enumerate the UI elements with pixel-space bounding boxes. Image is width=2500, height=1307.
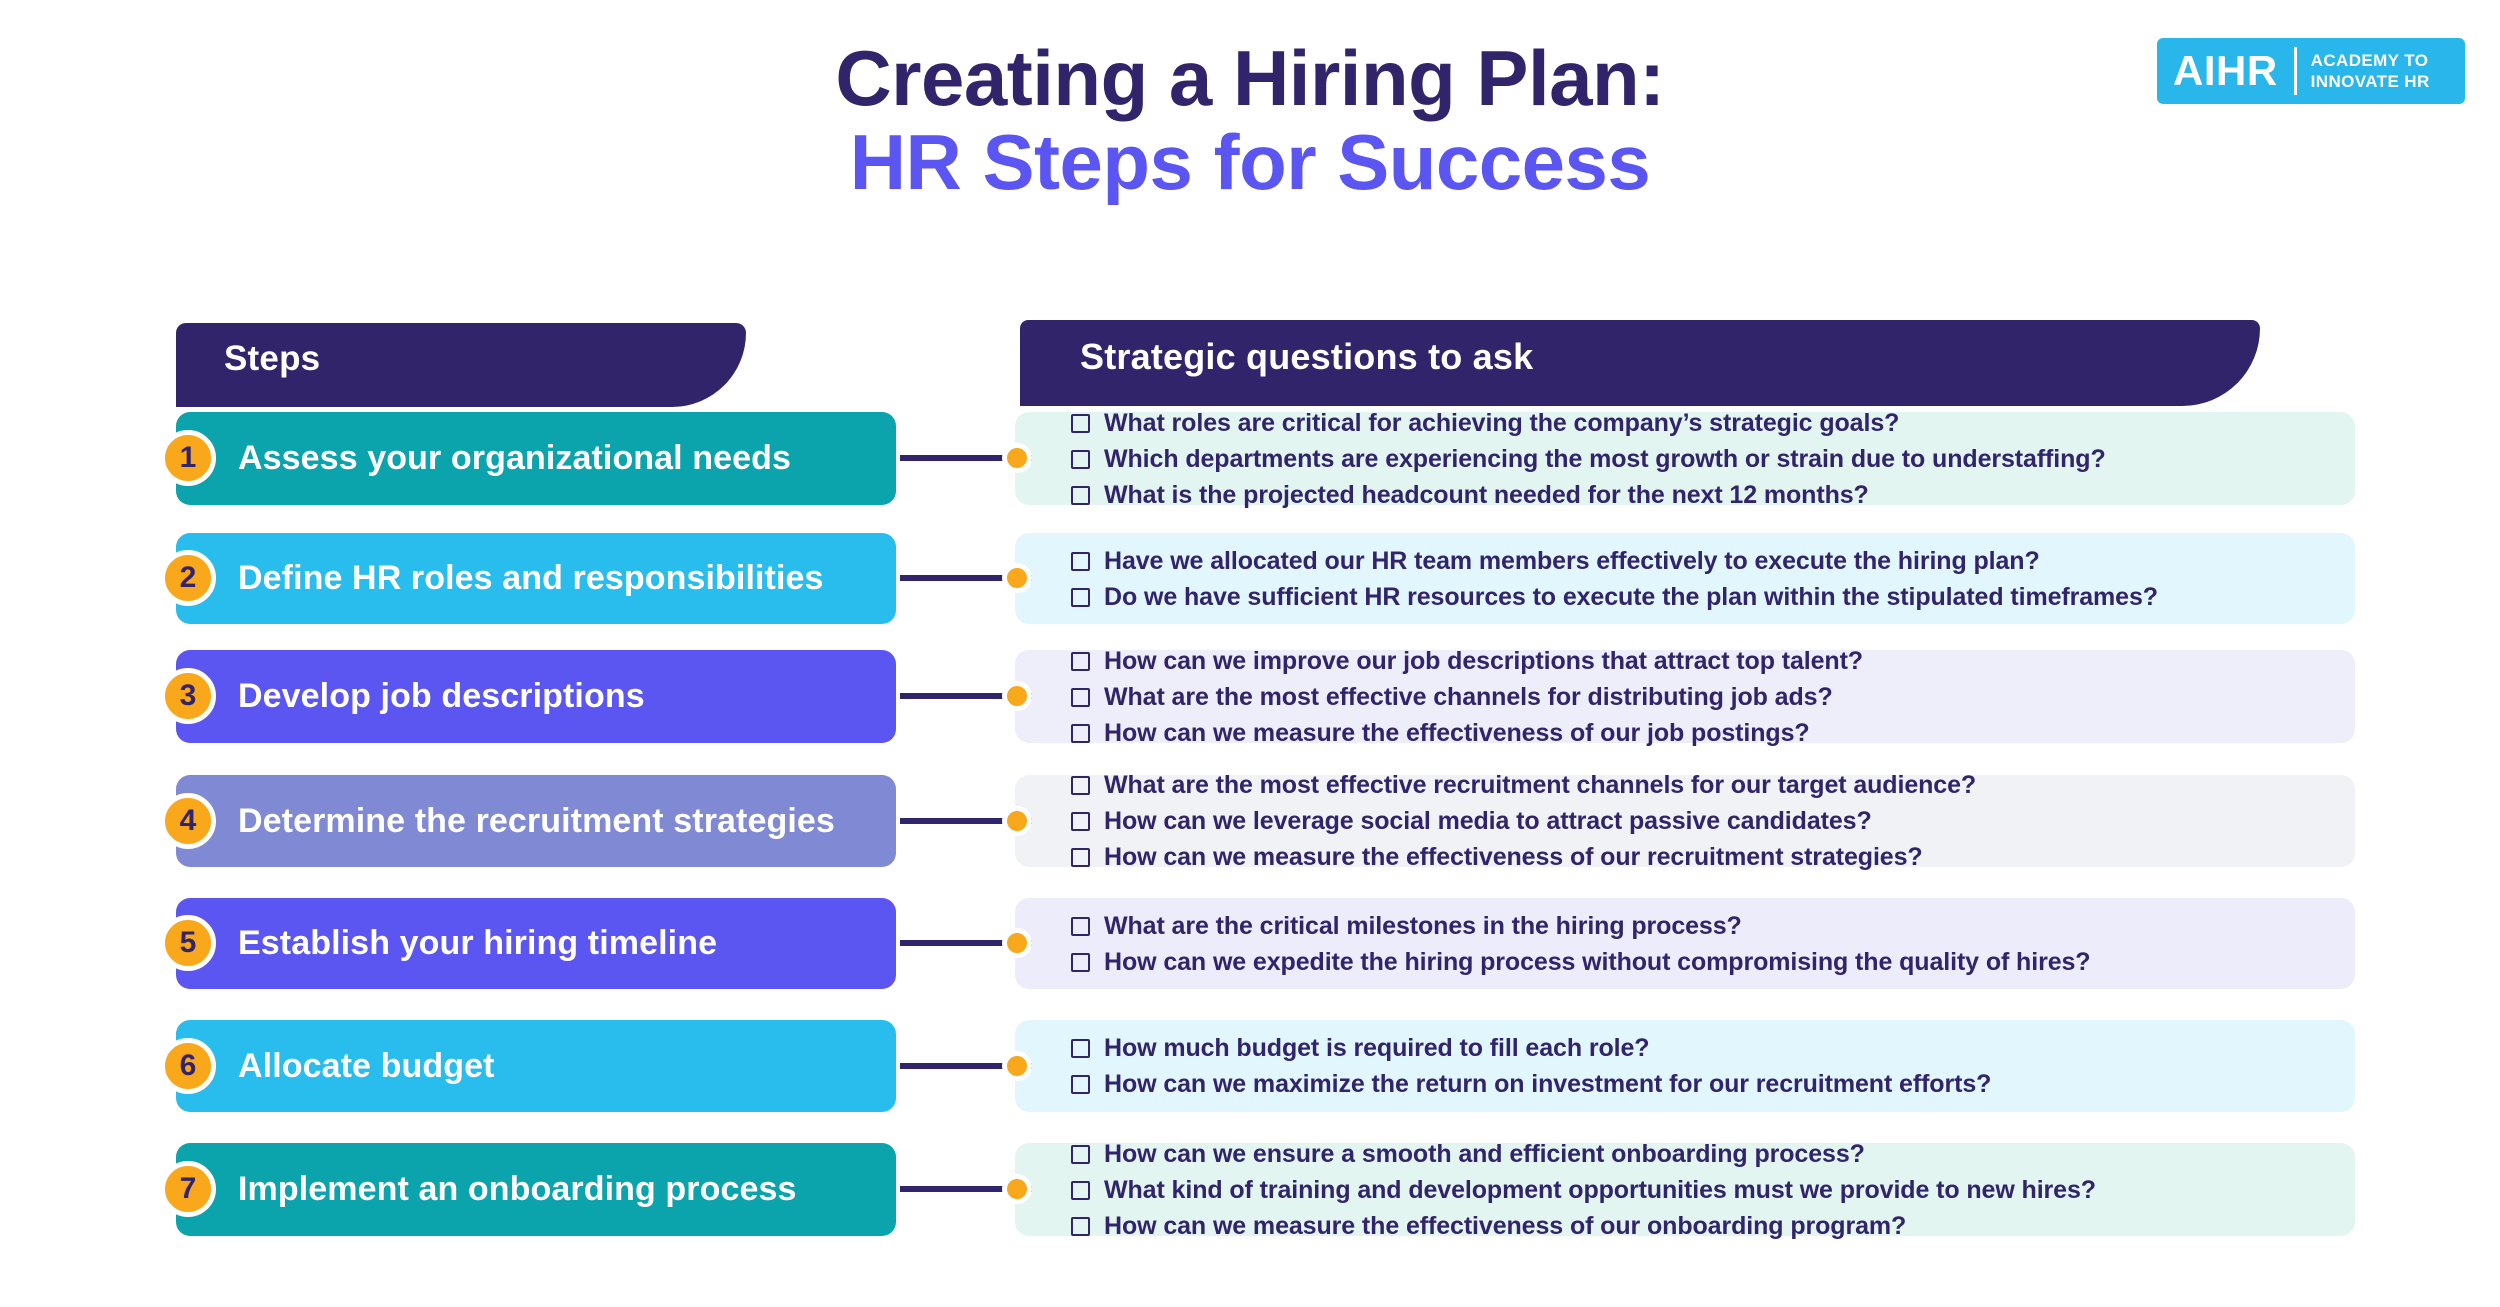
question-item[interactable]: What is the projected headcount needed f… bbox=[1071, 477, 2355, 513]
checkbox-icon[interactable] bbox=[1071, 1217, 1090, 1236]
logo-tagline: ACADEMY TO INNOVATE HR bbox=[2311, 50, 2430, 93]
step-label: Allocate budget bbox=[238, 1047, 495, 1086]
question-text: Do we have sufficient HR resources to ex… bbox=[1104, 583, 2158, 611]
step-box[interactable]: Define HR roles and responsibilities bbox=[176, 533, 896, 624]
step-number: 3 bbox=[180, 679, 197, 713]
step-number-badge: 5 bbox=[160, 915, 216, 971]
question-text: Have we allocated our HR team members ef… bbox=[1104, 547, 2040, 575]
checkbox-icon[interactable] bbox=[1071, 917, 1090, 936]
step-box[interactable]: Establish your hiring timeline bbox=[176, 898, 896, 989]
questions-panel: What are the most effective recruitment … bbox=[1015, 775, 2355, 867]
question-text: How can we measure the effectiveness of … bbox=[1104, 843, 1923, 871]
connector-dot bbox=[1002, 806, 1032, 836]
question-item[interactable]: How can we improve our job descriptions … bbox=[1071, 643, 2355, 679]
step-box[interactable]: Allocate budget bbox=[176, 1020, 896, 1112]
step-number-badge: 1 bbox=[160, 430, 216, 486]
step-label: Implement an onboarding process bbox=[238, 1170, 797, 1209]
question-item[interactable]: How can we leverage social media to attr… bbox=[1071, 803, 2355, 839]
question-item[interactable]: How can we measure the effectiveness of … bbox=[1071, 839, 2355, 875]
question-item[interactable]: What roles are critical for achieving th… bbox=[1071, 405, 2355, 441]
question-text: How can we measure the effectiveness of … bbox=[1104, 1212, 1906, 1240]
question-text: How can we expedite the hiring process w… bbox=[1104, 948, 2090, 976]
connector-dot bbox=[1002, 563, 1032, 593]
question-item[interactable]: Do we have sufficient HR resources to ex… bbox=[1071, 579, 2355, 615]
questions-panel: How can we improve our job descriptions … bbox=[1015, 650, 2355, 743]
question-text: What roles are critical for achieving th… bbox=[1104, 409, 1899, 437]
checkbox-icon[interactable] bbox=[1071, 552, 1090, 571]
question-item[interactable]: What are the most effective recruitment … bbox=[1071, 767, 2355, 803]
question-text: What are the most effective recruitment … bbox=[1104, 771, 1976, 799]
question-item[interactable]: How can we maximize the return on invest… bbox=[1071, 1066, 2355, 1102]
checkbox-icon[interactable] bbox=[1071, 953, 1090, 972]
question-item[interactable]: What kind of training and development op… bbox=[1071, 1172, 2355, 1208]
page-title: Creating a Hiring Plan: HR Steps for Suc… bbox=[0, 38, 2500, 206]
checkbox-icon[interactable] bbox=[1071, 776, 1090, 795]
checkbox-icon[interactable] bbox=[1071, 486, 1090, 505]
question-text: How much budget is required to fill each… bbox=[1104, 1034, 1649, 1062]
question-item[interactable]: How can we measure the effectiveness of … bbox=[1071, 1208, 2355, 1244]
logo-wordmark: AIHR bbox=[2173, 50, 2278, 92]
step-label: Define HR roles and responsibilities bbox=[238, 559, 824, 598]
checkbox-icon[interactable] bbox=[1071, 1075, 1090, 1094]
question-text: How can we improve our job descriptions … bbox=[1104, 647, 1863, 675]
question-text: What are the critical milestones in the … bbox=[1104, 912, 1742, 940]
question-item[interactable]: Which departments are experiencing the m… bbox=[1071, 441, 2355, 477]
step-box[interactable]: Determine the recruitment strategies bbox=[176, 775, 896, 867]
connector-dot bbox=[1002, 928, 1032, 958]
connector-dot bbox=[1002, 1051, 1032, 1081]
question-text: How can we maximize the return on invest… bbox=[1104, 1070, 1991, 1098]
question-item[interactable]: What are the most effective channels for… bbox=[1071, 679, 2355, 715]
step-number: 2 bbox=[180, 561, 197, 595]
steps-column-header-label: Steps bbox=[224, 339, 320, 379]
step-box[interactable]: Implement an onboarding process bbox=[176, 1143, 896, 1236]
connector-dot bbox=[1002, 1174, 1032, 1204]
question-text: What kind of training and development op… bbox=[1104, 1176, 2096, 1204]
question-text: What is the projected headcount needed f… bbox=[1104, 481, 1869, 509]
step-number-badge: 6 bbox=[160, 1038, 216, 1094]
questions-panel: How can we ensure a smooth and efficient… bbox=[1015, 1143, 2355, 1236]
step-label: Determine the recruitment strategies bbox=[238, 802, 835, 841]
questions-panel: How much budget is required to fill each… bbox=[1015, 1020, 2355, 1112]
logo-divider bbox=[2294, 47, 2297, 95]
step-label: Develop job descriptions bbox=[238, 677, 645, 716]
checkbox-icon[interactable] bbox=[1071, 414, 1090, 433]
questions-panel: Have we allocated our HR team members ef… bbox=[1015, 533, 2355, 624]
checkbox-icon[interactable] bbox=[1071, 1039, 1090, 1058]
step-number: 5 bbox=[180, 926, 197, 960]
checkbox-icon[interactable] bbox=[1071, 1145, 1090, 1164]
checkbox-icon[interactable] bbox=[1071, 848, 1090, 867]
logo-tagline-line2: INNOVATE HR bbox=[2311, 72, 2430, 91]
question-text: Which departments are experiencing the m… bbox=[1104, 445, 2106, 473]
step-label: Establish your hiring timeline bbox=[238, 924, 717, 963]
question-text: How can we ensure a smooth and efficient… bbox=[1104, 1140, 1865, 1168]
question-item[interactable]: How can we measure the effectiveness of … bbox=[1071, 715, 2355, 751]
questions-column-header-label: Strategic questions to ask bbox=[1080, 336, 1533, 378]
question-text: How can we leverage social media to attr… bbox=[1104, 807, 1872, 835]
step-number: 1 bbox=[180, 441, 197, 475]
question-item[interactable]: How can we ensure a smooth and efficient… bbox=[1071, 1136, 2355, 1172]
checkbox-icon[interactable] bbox=[1071, 450, 1090, 469]
aihr-logo: AIHR ACADEMY TO INNOVATE HR bbox=[2157, 38, 2465, 104]
connector-dot bbox=[1002, 681, 1032, 711]
question-item[interactable]: What are the critical milestones in the … bbox=[1071, 908, 2355, 944]
steps-column-header: Steps bbox=[176, 323, 746, 407]
step-box[interactable]: Develop job descriptions bbox=[176, 650, 896, 743]
checkbox-icon[interactable] bbox=[1071, 688, 1090, 707]
checkbox-icon[interactable] bbox=[1071, 724, 1090, 743]
step-number-badge: 7 bbox=[160, 1161, 216, 1217]
questions-column-header: Strategic questions to ask bbox=[1020, 320, 2260, 406]
step-number: 6 bbox=[180, 1049, 197, 1083]
logo-tagline-line1: ACADEMY TO bbox=[2311, 51, 2429, 70]
step-number-badge: 3 bbox=[160, 668, 216, 724]
question-item[interactable]: How can we expedite the hiring process w… bbox=[1071, 944, 2355, 980]
question-text: What are the most effective channels for… bbox=[1104, 683, 1833, 711]
question-text: How can we measure the effectiveness of … bbox=[1104, 719, 1810, 747]
step-label: Assess your organizational needs bbox=[238, 439, 791, 478]
step-number-badge: 2 bbox=[160, 550, 216, 606]
title-line-secondary: HR Steps for Success bbox=[0, 119, 2500, 206]
step-number: 4 bbox=[180, 804, 197, 838]
connector-dot bbox=[1002, 443, 1032, 473]
step-box[interactable]: Assess your organizational needs bbox=[176, 412, 896, 505]
step-number: 7 bbox=[180, 1172, 197, 1206]
questions-panel: What roles are critical for achieving th… bbox=[1015, 412, 2355, 505]
question-item[interactable]: Have we allocated our HR team members ef… bbox=[1071, 543, 2355, 579]
questions-panel: What are the critical milestones in the … bbox=[1015, 898, 2355, 989]
checkbox-icon[interactable] bbox=[1071, 812, 1090, 831]
step-number-badge: 4 bbox=[160, 793, 216, 849]
question-item[interactable]: How much budget is required to fill each… bbox=[1071, 1030, 2355, 1066]
title-line-primary: Creating a Hiring Plan: bbox=[0, 38, 2500, 119]
checkbox-icon[interactable] bbox=[1071, 652, 1090, 671]
checkbox-icon[interactable] bbox=[1071, 1181, 1090, 1200]
checkbox-icon[interactable] bbox=[1071, 588, 1090, 607]
